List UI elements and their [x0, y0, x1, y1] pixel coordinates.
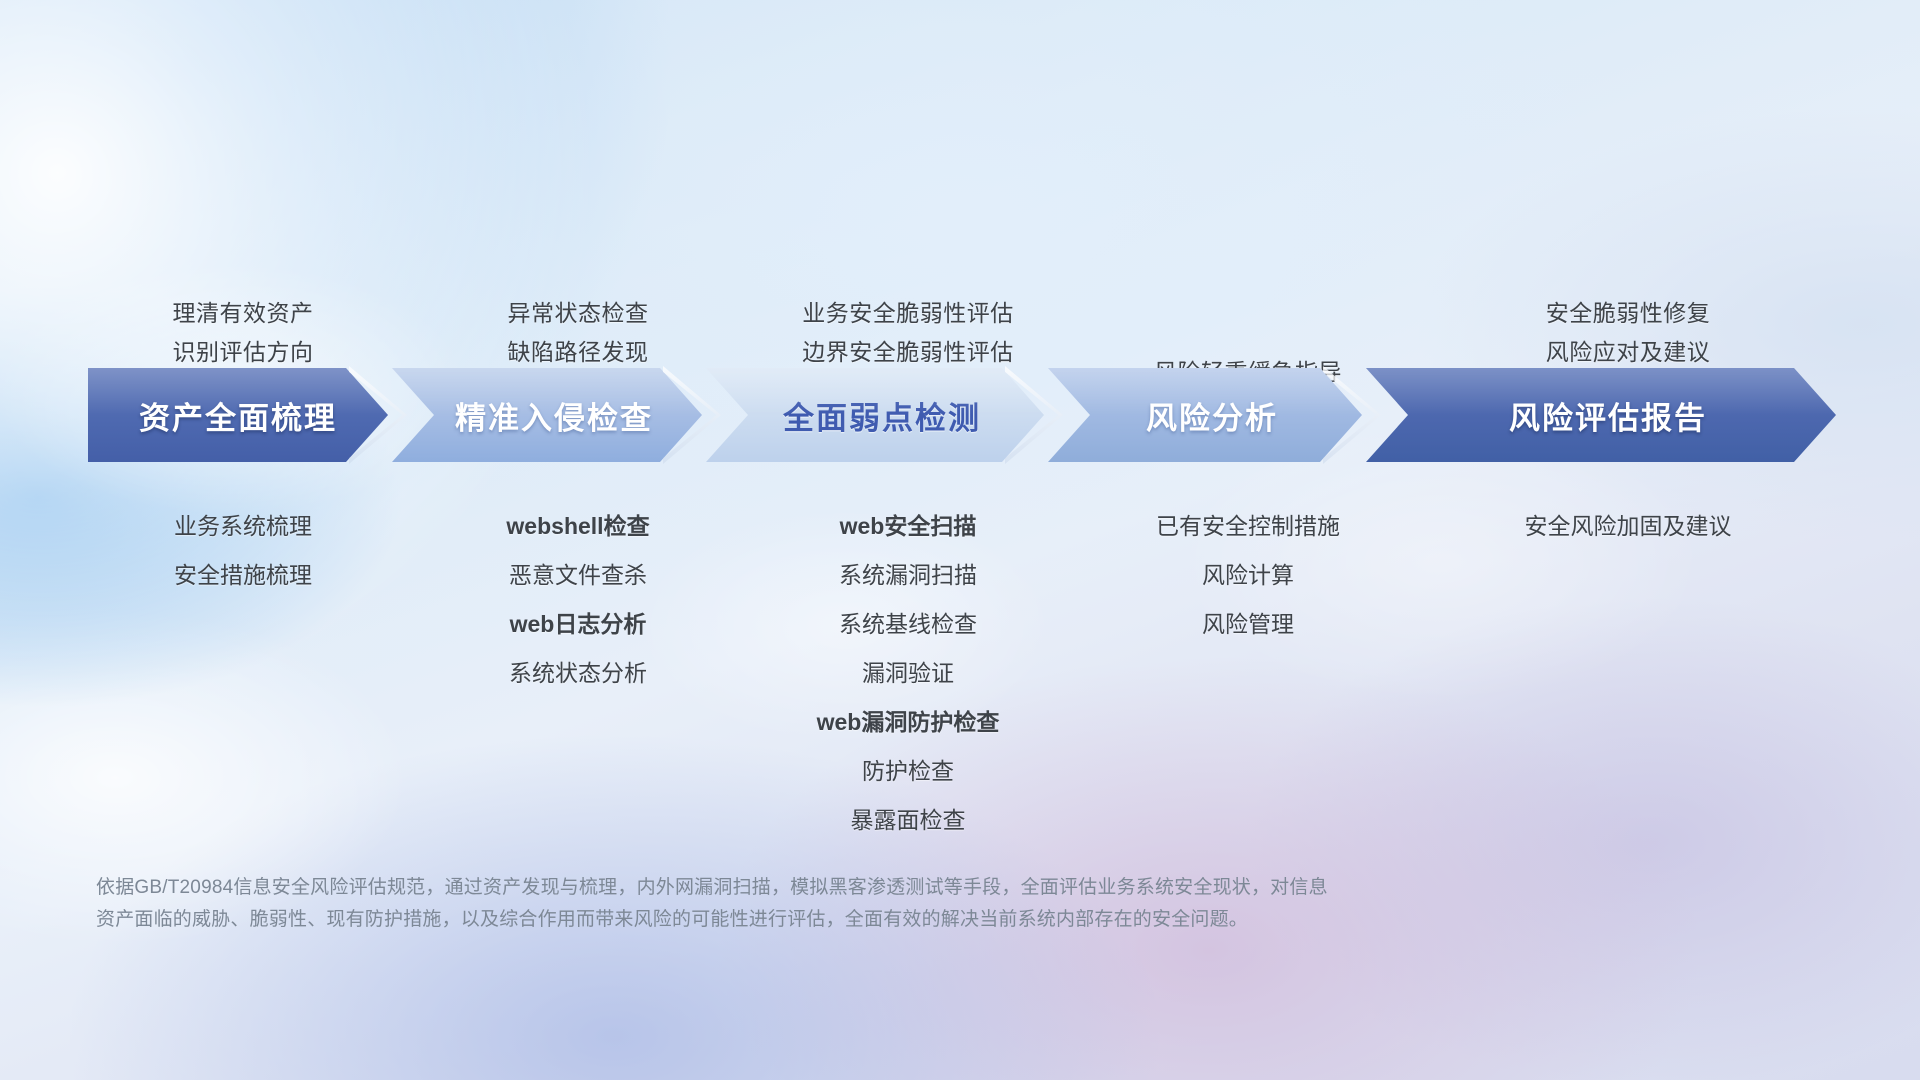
list-item: 风险管理: [1088, 600, 1408, 649]
list-item-label: 系统状态分析: [509, 660, 647, 686]
list-item-label: 安全风险加固及建议: [1525, 513, 1732, 539]
list-item: web安全扫描: [738, 502, 1078, 551]
bottom-items-3: 已有安全控制措施 风险计算 风险管理: [1088, 502, 1408, 649]
list-item: 已有安全控制措施: [1088, 502, 1408, 551]
list-item: web日志分析: [418, 600, 738, 649]
bottom-items-2: web安全扫描 系统漏洞扫描 系统基线检查 漏洞验证 web漏洞防护检查 防护检…: [738, 502, 1078, 845]
list-item-label: web安全扫描: [840, 513, 977, 539]
list-item: 恶意文件查杀: [418, 551, 738, 600]
list-item: 系统状态分析: [418, 649, 738, 698]
list-item-label: 风险管理: [1202, 611, 1294, 637]
footer-line-2: 资产面临的威胁、脆弱性、现有防护措施，以及综合作用而带来风险的可能性进行评估，全…: [96, 904, 1656, 936]
list-item-label: 恶意文件查杀: [509, 562, 647, 588]
bottom-items-4: 安全风险加固及建议: [1418, 502, 1838, 551]
list-item: 安全措施梳理: [78, 551, 408, 600]
list-item: 系统漏洞扫描: [738, 551, 1078, 600]
list-item-label: 防护检查: [862, 758, 954, 784]
list-item-label: web日志分析: [510, 611, 647, 637]
list-item-label: 暴露面检查: [851, 807, 966, 833]
list-item-label: 安全措施梳理: [174, 562, 312, 588]
list-item: 系统基线检查: [738, 600, 1078, 649]
bottom-items-1: webshell检查 恶意文件查杀 web日志分析 系统状态分析: [418, 502, 738, 698]
list-item-label: webshell检查: [506, 513, 649, 539]
list-item-label: 系统漏洞扫描: [839, 562, 977, 588]
list-item: 漏洞验证: [738, 649, 1078, 698]
footer-description: 依据GB/T20984信息安全风险评估规范，通过资产发现与梳理，内外网漏洞扫描，…: [96, 872, 1656, 936]
list-item-label: 风险计算: [1202, 562, 1294, 588]
footer-line-1: 依据GB/T20984信息安全风险评估规范，通过资产发现与梳理，内外网漏洞扫描，…: [96, 872, 1656, 904]
list-item: 防护检查: [738, 747, 1078, 796]
list-item: web漏洞防护检查: [738, 698, 1078, 747]
list-item: webshell检查: [418, 502, 738, 551]
list-item: 业务系统梳理: [78, 502, 408, 551]
list-item: 风险计算: [1088, 551, 1408, 600]
slide-canvas: 理清有效资产 识别评估方向 异常状态检查 缺陷路径发现 业务安全脆弱性评估 边界…: [0, 0, 1920, 1080]
list-item-label: web漏洞防护检查: [817, 709, 1000, 735]
list-item-label: 系统基线检查: [839, 611, 977, 637]
list-item: 安全风险加固及建议: [1418, 502, 1838, 551]
list-item-label: 业务系统梳理: [174, 513, 312, 539]
list-item-label: 已有安全控制措施: [1156, 513, 1340, 539]
list-item-label: 漏洞验证: [862, 660, 954, 686]
list-item: 暴露面检查: [738, 796, 1078, 845]
bottom-items-0: 业务系统梳理 安全措施梳理: [78, 502, 408, 600]
